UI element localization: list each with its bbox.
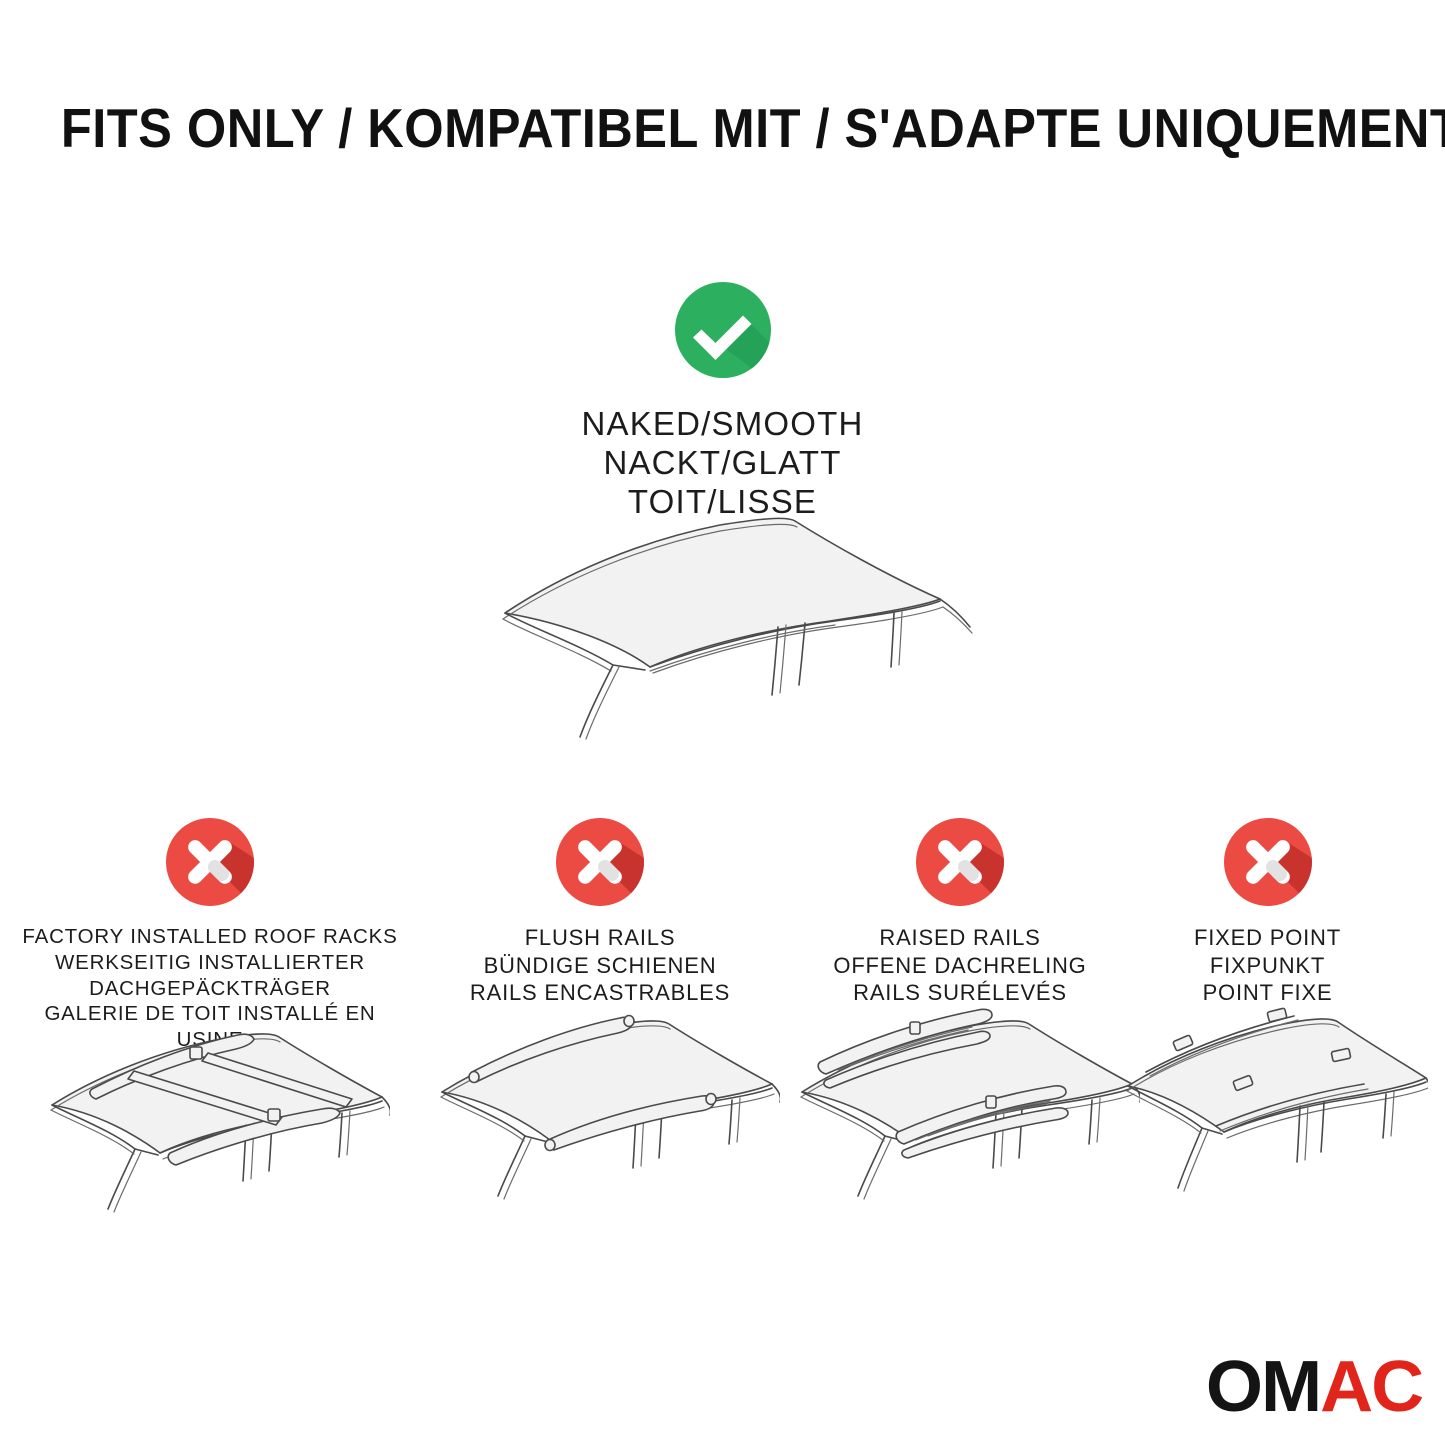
rejected-item-raised-rails: RAISED RAILS OFFENE DACHRELING RAILS SUR… [780, 818, 1140, 1007]
x-circle-icon [166, 818, 254, 906]
rejected-label: FIXED POINT FIXPUNKT POINT FIXE [1140, 924, 1395, 1007]
rejected-label-line-1: WERKSEITIG INSTALLIERTER [10, 950, 410, 976]
rejected-label-line-0: FLUSH RAILS [420, 924, 780, 952]
badge-wrap [10, 818, 410, 918]
logo-text-om: OM [1206, 1347, 1320, 1427]
car-roof-flush-rails-illustration [420, 1000, 780, 1220]
badge-wrap [420, 818, 780, 918]
rejected-label-line-0: FIXED POINT [1140, 924, 1395, 952]
approved-section: NAKED/SMOOTH NACKT/GLATT TOIT/LISSE [0, 282, 1445, 522]
car-roof-naked-smooth-illustration [470, 495, 990, 745]
rejected-item-factory-installed-roof-racks: FACTORY INSTALLED ROOF RACKS WERKSEITIG … [10, 818, 410, 1053]
badge-wrap [780, 818, 1140, 918]
x-mark-glyph [916, 818, 1004, 906]
approved-label-line-0: NAKED/SMOOTH [0, 405, 1445, 444]
check-circle-icon [675, 282, 771, 378]
compatibility-infographic: FITS ONLY / KOMPATIBEL MIT / S'ADAPTE UN… [0, 0, 1445, 1445]
logo-text-ac: AC [1320, 1347, 1422, 1427]
car-roof-fixed-point-illustration [1108, 1000, 1428, 1220]
omac-logo: OMAC [1206, 1351, 1422, 1423]
rejected-section: FACTORY INSTALLED ROOF RACKS WERKSEITIG … [0, 818, 1445, 1258]
badge-wrap [1140, 818, 1395, 918]
page-title: FITS ONLY / KOMPATIBEL MIT / S'ADAPTE UN… [61, 96, 1445, 160]
rejected-item-flush-rails: FLUSH RAILS BÜNDIGE SCHIENEN RAILS ENCAS… [420, 818, 780, 1007]
page-title-bar: FITS ONLY / KOMPATIBEL MIT / S'ADAPTE UN… [0, 96, 1445, 160]
x-mark-glyph [1224, 818, 1312, 906]
rejected-label-line-0: RAISED RAILS [780, 924, 1140, 952]
rejected-label-line-1: BÜNDIGE SCHIENEN [420, 952, 780, 980]
car-roof-factory-racks-illustration [30, 1013, 390, 1233]
rejected-label: FLUSH RAILS BÜNDIGE SCHIENEN RAILS ENCAS… [420, 924, 780, 1007]
car-roof-raised-rails-illustration [780, 1000, 1140, 1220]
x-circle-icon [556, 818, 644, 906]
rejected-label: RAISED RAILS OFFENE DACHRELING RAILS SUR… [780, 924, 1140, 1007]
x-mark-glyph [166, 818, 254, 906]
x-mark-glyph [556, 818, 644, 906]
rejected-label-line-1: FIXPUNKT [1140, 952, 1395, 980]
x-circle-icon [1224, 818, 1312, 906]
x-circle-icon [916, 818, 1004, 906]
check-mark-glyph [675, 282, 771, 378]
approved-label-line-1: NACKT/GLATT [0, 444, 1445, 483]
rejected-label-line-1: OFFENE DACHRELING [780, 952, 1140, 980]
rejected-label-line-0: FACTORY INSTALLED ROOF RACKS [10, 924, 410, 950]
rejected-item-fixed-point: FIXED POINT FIXPUNKT POINT FIXE [1140, 818, 1395, 1007]
rejected-label-line-2: DACHGEPÄCKTRÄGER [10, 976, 410, 1002]
